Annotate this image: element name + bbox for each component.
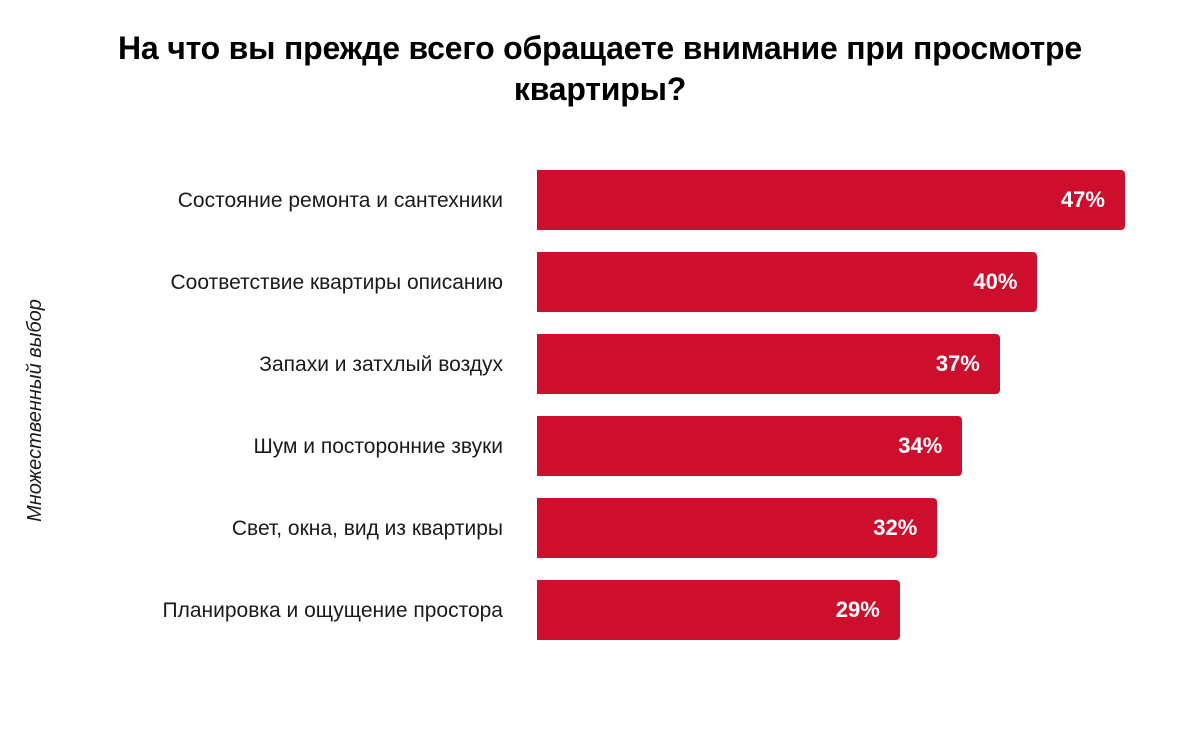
category-label: Состояние ремонта и сантехники <box>0 170 520 230</box>
bar-row: Состояние ремонта и сантехники 47% <box>0 170 1200 230</box>
bar-value-label: 40% <box>973 271 1037 293</box>
bar-row: Запахи и затхлый воздух 37% <box>0 334 1200 394</box>
category-label: Запахи и затхлый воздух <box>0 334 520 394</box>
category-label: Свет, окна, вид из квартиры <box>0 498 520 558</box>
category-label: Соответствие квартиры описанию <box>0 252 520 312</box>
bar-row: Свет, окна, вид из квартиры 32% <box>0 498 1200 558</box>
plot-area: Состояние ремонта и сантехники 47% Соотв… <box>0 170 1200 650</box>
bar[interactable]: 47% <box>537 170 1125 230</box>
category-label: Планировка и ощущение простора <box>0 580 520 640</box>
bar-row: Шум и посторонние звуки 34% <box>0 416 1200 476</box>
bar-chart: На что вы прежде всего обращаете внимани… <box>0 0 1200 742</box>
bar-value-label: 47% <box>1061 189 1125 211</box>
bar[interactable]: 32% <box>537 498 937 558</box>
bar[interactable]: 37% <box>537 334 1000 394</box>
bar[interactable]: 29% <box>537 580 900 640</box>
bar-value-label: 37% <box>936 353 1000 375</box>
bar[interactable]: 34% <box>537 416 962 476</box>
bar-row: Соответствие квартиры описанию 40% <box>0 252 1200 312</box>
chart-title: На что вы прежде всего обращаете внимани… <box>90 28 1110 110</box>
category-label: Шум и посторонние звуки <box>0 416 520 476</box>
bar-value-label: 29% <box>836 599 900 621</box>
bar[interactable]: 40% <box>537 252 1037 312</box>
bar-value-label: 32% <box>873 517 937 539</box>
bar-value-label: 34% <box>898 435 962 457</box>
bar-row: Планировка и ощущение простора 29% <box>0 580 1200 640</box>
